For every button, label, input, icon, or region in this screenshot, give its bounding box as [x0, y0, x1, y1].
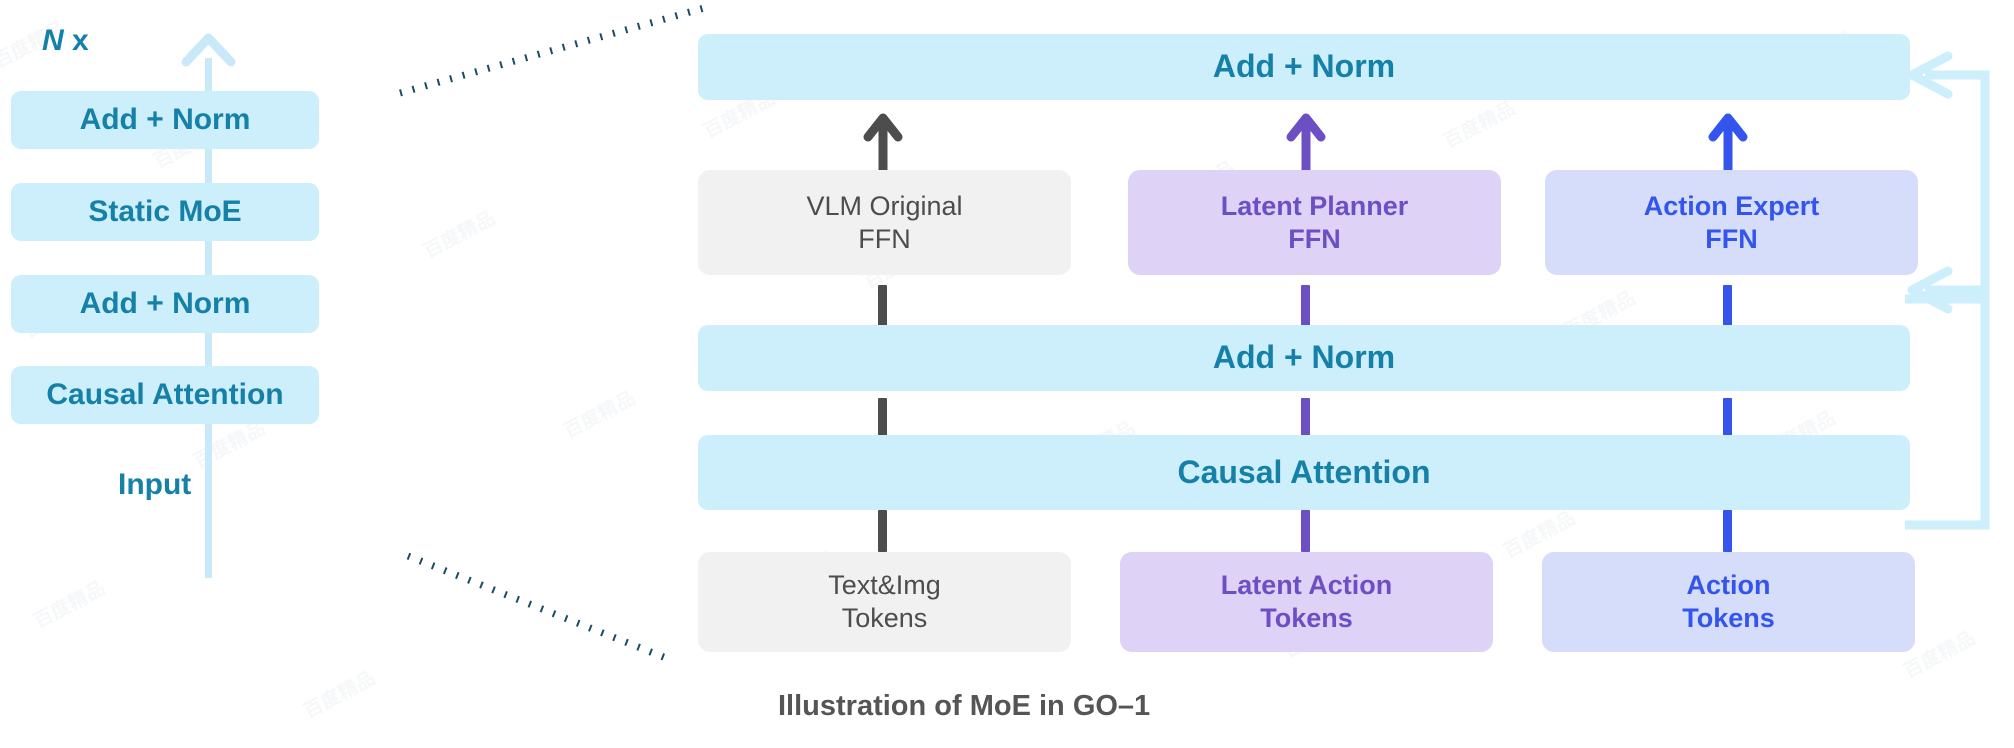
right-add-norm-mid-label: Add + Norm — [1213, 338, 1395, 377]
left-input-label: Input — [118, 468, 191, 502]
left-block-add-norm-top[interactable]: Add + Norm — [11, 91, 319, 149]
right-add-norm-top-label: Add + Norm — [1213, 47, 1395, 86]
expert-box-vlm-original-ffn[interactable]: VLM Original FFN — [698, 170, 1071, 275]
token-label-line2: Tokens — [1221, 602, 1393, 635]
expert-label-line1: Action Expert — [1644, 190, 1820, 223]
expert-label-line1: Latent Planner — [1221, 190, 1409, 223]
expert-label-line1: VLM Original — [806, 190, 962, 223]
expert-box-action-expert-ffn[interactable]: Action Expert FFN — [1545, 170, 1918, 275]
diagram-canvas: 百度精品 百度精品 百度精品 百度精品 百度精品 百度精品 百度精品 百度精品 … — [0, 0, 2014, 748]
token-box-action-tokens[interactable]: Action Tokens — [1542, 552, 1915, 652]
left-block-label: Causal Attention — [46, 377, 283, 414]
token-label-line2: Tokens — [828, 602, 941, 635]
expert-box-latent-planner-ffn[interactable]: Latent Planner FFN — [1128, 170, 1501, 275]
token-label-line1: Text&Img — [828, 569, 941, 602]
expert-label-line2: FFN — [806, 223, 962, 256]
token-label-line1: Latent Action — [1221, 569, 1393, 602]
repeat-count-n: N — [42, 24, 64, 57]
right-causal-attention[interactable]: Causal Attention — [698, 435, 1910, 510]
left-block-label: Add + Norm — [80, 286, 251, 323]
token-label-line1: Action — [1682, 569, 1775, 602]
left-block-label: Static MoE — [88, 194, 241, 231]
token-box-text-img-tokens[interactable]: Text&Img Tokens — [698, 552, 1071, 652]
left-block-add-norm-bottom[interactable]: Add + Norm — [11, 275, 319, 333]
left-block-static-moe[interactable]: Static MoE — [11, 183, 319, 241]
token-label-line2: Tokens — [1682, 602, 1775, 635]
right-add-norm-top[interactable]: Add + Norm — [698, 34, 1910, 100]
left-block-causal-attention[interactable]: Causal Attention — [11, 366, 319, 424]
left-block-label: Add + Norm — [80, 102, 251, 139]
right-add-norm-mid[interactable]: Add + Norm — [698, 325, 1910, 391]
right-causal-attention-label: Causal Attention — [1177, 453, 1430, 492]
figure-caption: Illustration of MoE in GO–1 — [778, 690, 1150, 723]
figure-caption-text: Illustration of MoE in GO–1 — [778, 690, 1150, 722]
expert-label-line2: FFN — [1644, 223, 1820, 256]
left-input-text: Input — [118, 468, 191, 501]
repeat-count-label: N x — [42, 24, 89, 58]
expert-label-line2: FFN — [1221, 223, 1409, 256]
token-box-latent-action-tokens[interactable]: Latent Action Tokens — [1120, 552, 1493, 652]
repeat-count-x: x — [64, 24, 89, 57]
